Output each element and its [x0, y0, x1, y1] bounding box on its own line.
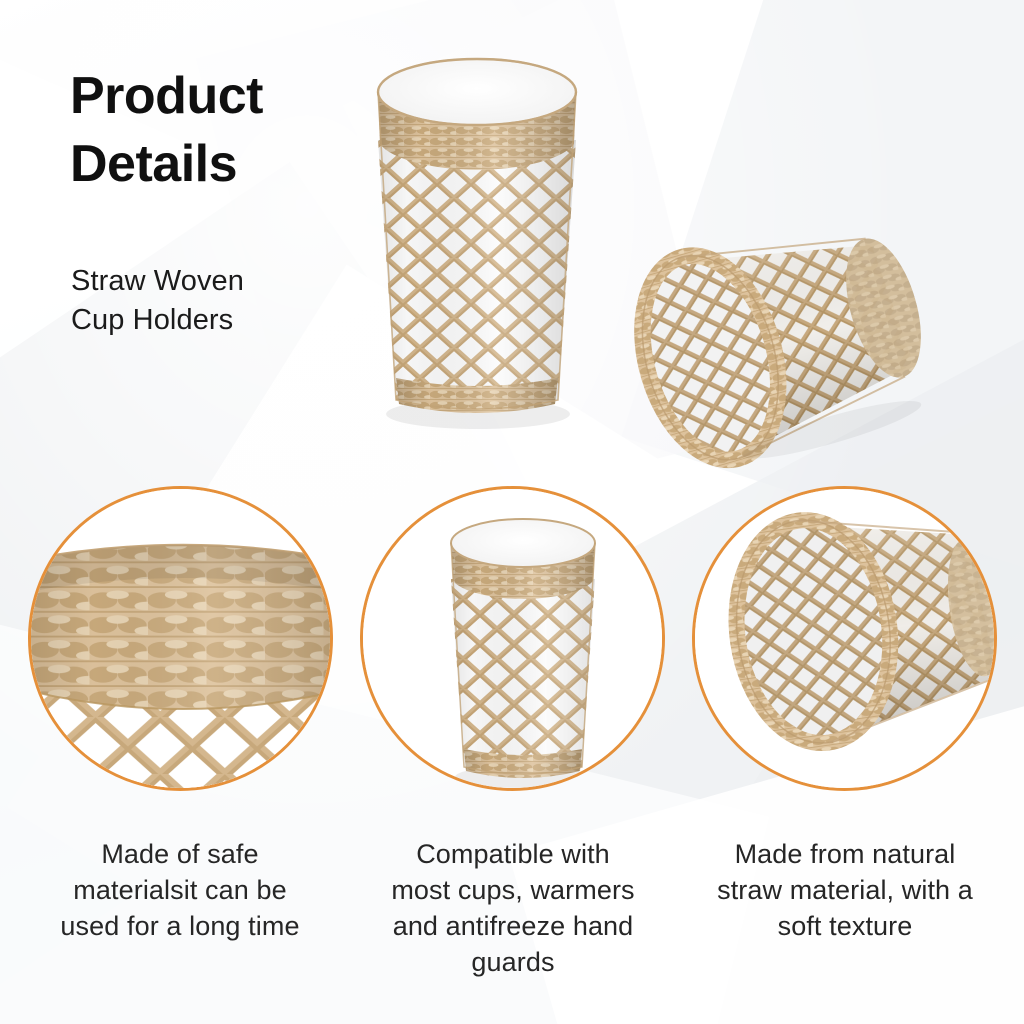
- caption-middle-line2: most cups, warmers: [358, 872, 668, 908]
- product-subtitle: Straw Woven Cup Holders: [71, 262, 371, 340]
- page-title: Product Details: [70, 62, 400, 198]
- callout-circle-middle: [360, 486, 665, 791]
- caption-right: Made from natural straw material, with a…: [690, 836, 1000, 944]
- caption-right-line2: straw material, with a: [690, 872, 1000, 908]
- whole-product-svg: [363, 489, 665, 791]
- caption-right-line3: soft texture: [690, 908, 1000, 944]
- caption-left: Made of safe materialsit can be used for…: [30, 836, 330, 944]
- callout-circle-right: [692, 486, 997, 791]
- product-subtitle-line2: Cup Holders: [71, 301, 371, 340]
- caption-middle-line3: and antifreeze hand: [358, 908, 668, 944]
- callout-circle-left: [28, 486, 333, 791]
- caption-middle-line4: guards: [358, 944, 668, 980]
- caption-middle-line1: Compatible with: [358, 836, 668, 872]
- infographic-page: Product Details Straw Woven Cup Holders …: [0, 0, 1024, 1024]
- interior-weave-svg: [695, 489, 997, 791]
- caption-left-line3: used for a long time: [30, 908, 330, 944]
- page-title-line2: Details: [70, 130, 400, 198]
- caption-middle: Compatible with most cups, warmers and a…: [358, 836, 668, 980]
- caption-right-line1: Made from natural: [690, 836, 1000, 872]
- rim-closeup-svg: [31, 489, 333, 791]
- page-title-line1: Product: [70, 62, 400, 130]
- caption-left-line1: Made of safe: [30, 836, 330, 872]
- product-subtitle-line1: Straw Woven: [71, 262, 371, 301]
- caption-left-line2: materialsit can be: [30, 872, 330, 908]
